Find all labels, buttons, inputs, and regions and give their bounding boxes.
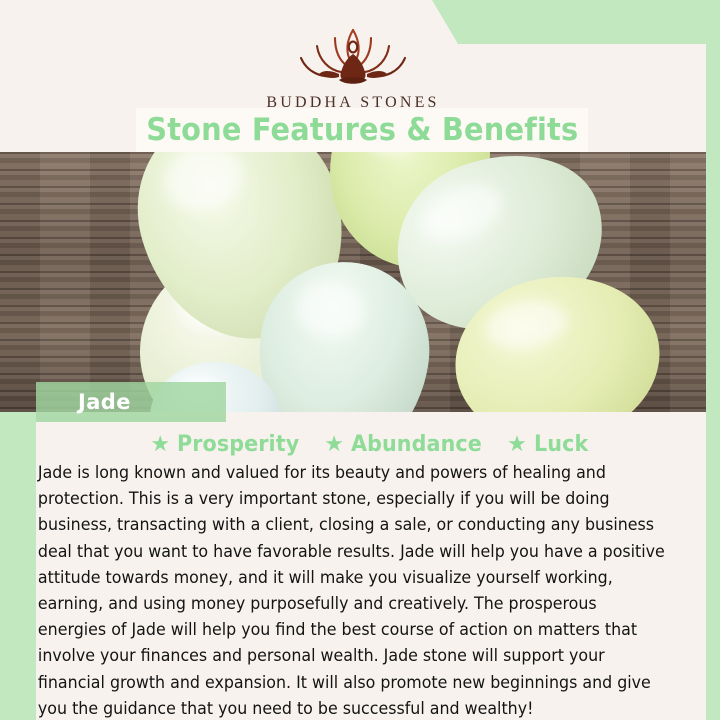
keyword-prosperity: ★ Prosperity [150,432,307,457]
page-title: Stone Features & Benefits [146,112,578,148]
title-banner: Stone Features & Benefits [136,108,588,152]
stone-photo [0,152,706,412]
right-green-accent-stripe [706,0,720,720]
infographic-card: BUDDHA STONES Stone Features & Benefits … [0,0,720,720]
keyword-label: Prosperity [177,432,299,457]
star-icon: ★ [507,433,527,455]
brand-logo: BUDDHA STONES [0,18,706,112]
description-paragraph: Jade is long known and valued for its be… [36,460,676,720]
lotus-meditation-icon [0,18,706,90]
stone-name-label: Jade [78,390,131,414]
star-icon: ★ [324,433,344,455]
keyword-row: ★ Prosperity ★ Abundance ★ Luck [36,428,706,460]
keyword-luck: ★ Luck [507,432,592,457]
keyword-label: Luck [534,432,588,457]
photo-caption-banner: Jade [36,382,226,422]
keyword-label: Abundance [351,432,482,457]
keyword-abundance: ★ Abundance [324,432,490,457]
star-icon: ★ [150,433,170,455]
